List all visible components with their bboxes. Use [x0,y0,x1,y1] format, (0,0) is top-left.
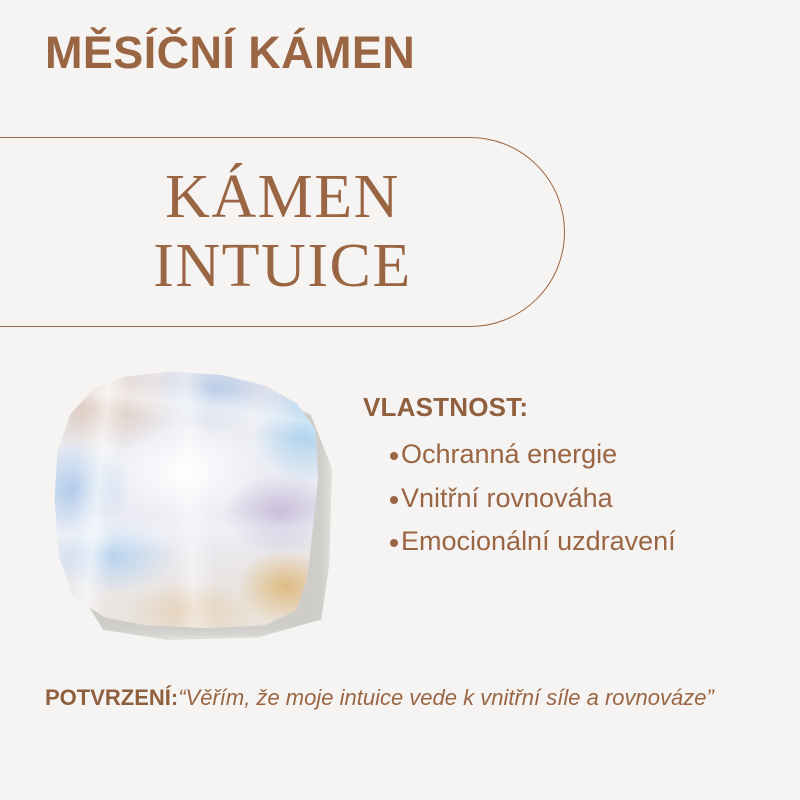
bullet-icon [390,452,398,460]
list-item: Emocionální uzdravení [363,520,783,564]
page-title: MĚSÍČNÍ KÁMEN [45,29,415,76]
list-item: Ochranná energie [363,433,783,477]
affirmation-label: POTVRZENÍ: [45,685,178,710]
list-item-label: Vnitřní rovnováha [401,483,613,513]
bullet-icon [390,539,398,547]
properties-section: VLASTNOST: Ochranná energie Vnitřní rovn… [363,392,783,564]
properties-list: Ochranná energie Vnitřní rovnováha Emoci… [363,433,783,564]
properties-heading: VLASTNOST: [363,392,783,423]
list-item: Vnitřní rovnováha [363,477,783,521]
headline-line-1: KÁMEN [165,163,400,232]
list-item-label: Emocionální uzdravení [401,526,676,556]
headline-line-2: INTUICE [153,232,411,301]
affirmation-quote: “Věřím, že moje intuice vede k vnitřní s… [178,685,714,710]
headline-block: KÁMEN INTUICE [0,137,565,327]
bullet-icon [390,496,398,504]
affirmation-section: POTVRZENÍ:“Věřím, že moje intuice vede k… [45,682,765,714]
list-item-label: Ochranná energie [401,439,617,469]
poster-canvas: MĚSÍČNÍ KÁMEN KÁMEN INTUICE VLASTNOST: O… [0,0,800,800]
moonstone-image [52,370,332,640]
moonstone-sheen-overlay [52,370,318,628]
